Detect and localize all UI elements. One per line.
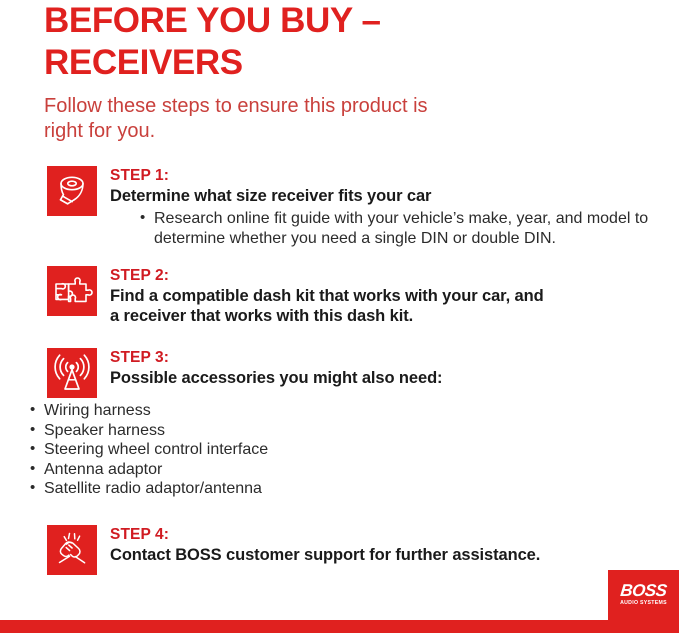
list-item: Wiring harness [30, 401, 679, 421]
step-body-4: STEP 4: Contact BOSS customer support fo… [97, 525, 679, 565]
step-heading-1: Determine what size receiver fits your c… [110, 186, 679, 206]
step-bullets-3: Wiring harness Speaker harness Steering … [0, 401, 679, 499]
step-heading-4: Contact BOSS customer support for furthe… [110, 545, 679, 565]
header: BEFORE YOU BUY – RECEIVERS Follow these … [0, 0, 679, 144]
step-item-4: STEP 4: Contact BOSS customer support fo… [0, 525, 679, 575]
list-item: Antenna adaptor [30, 460, 679, 480]
step-item-2: STEP 2: Find a compatible dash kit that … [0, 266, 679, 326]
antenna-signal-icon [47, 348, 97, 398]
bottom-accent-bar [0, 620, 679, 633]
puzzle-pieces-icon [47, 266, 97, 316]
page-title: BEFORE YOU BUY – RECEIVERS [44, 0, 639, 84]
step-heading-2: Find a compatible dash kit that works wi… [110, 286, 679, 326]
page-subtitle: Follow these steps to ensure this produc… [44, 94, 524, 144]
handshake-icon [47, 525, 97, 575]
step-label-1: STEP 1: [110, 166, 679, 185]
step-body-2: STEP 2: Find a compatible dash kit that … [97, 266, 679, 326]
step-heading-3: Possible accessories you might also need… [110, 368, 679, 388]
infographic-page: BEFORE YOU BUY – RECEIVERS Follow these … [0, 0, 679, 633]
boss-logo: BOSS AUDIO SYSTEMS [616, 582, 671, 607]
step-body-3: STEP 3: Possible accessories you might a… [97, 348, 679, 388]
step-item-3: STEP 3: Possible accessories you might a… [0, 348, 679, 398]
list-item: Steering wheel control interface [30, 440, 679, 460]
step-bullets-1: Research online fit guide with your vehi… [110, 209, 679, 249]
step-label-4: STEP 4: [110, 525, 679, 544]
step-label-3: STEP 3: [110, 348, 679, 367]
list-item: Speaker harness [30, 421, 679, 441]
list-item: Research online fit guide with your vehi… [140, 209, 679, 249]
step-body-1: STEP 1: Determine what size receiver fit… [97, 166, 679, 249]
step-label-2: STEP 2: [110, 266, 679, 285]
steps-list: STEP 1: Determine what size receiver fit… [0, 166, 679, 575]
brand-name: BOSS [615, 582, 672, 599]
brand-tagline: AUDIO SYSTEMS [616, 600, 671, 607]
tape-measure-icon [47, 166, 97, 216]
step-item-1: STEP 1: Determine what size receiver fit… [0, 166, 679, 249]
list-item: Satellite radio adaptor/antenna [30, 479, 679, 499]
